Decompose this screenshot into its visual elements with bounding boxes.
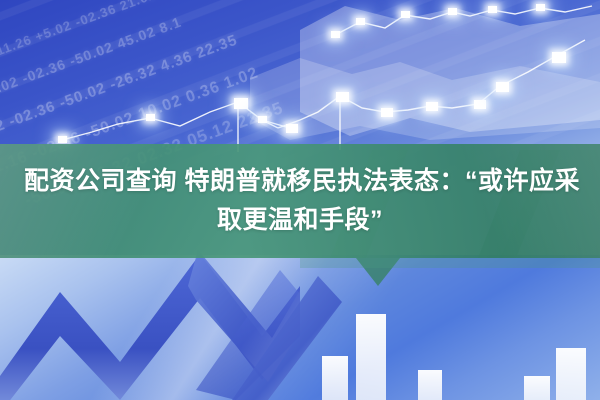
banner-image: -50.02 -02.36 -11.26 +5.02 -02.36 21.02 … — [0, 0, 600, 400]
headline-line-1: 配资公司查询 特朗普就移民执法表态：“或许应采 — [20, 162, 580, 201]
headline-line-2: 取更温和手段” — [217, 201, 383, 240]
headline-text: 配资公司查询 特朗普就移民执法表态：“或许应采 取更温和手段” — [0, 144, 600, 258]
